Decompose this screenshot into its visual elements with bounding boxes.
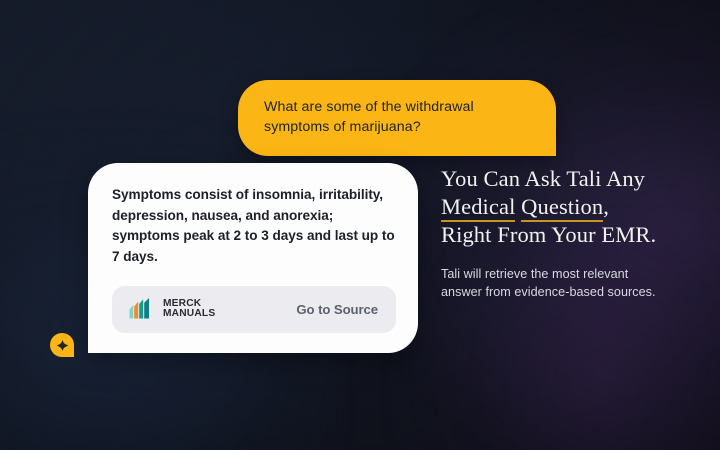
question-bubble: What are some of the withdrawal symptoms…: [238, 80, 556, 156]
merck-manuals-wordmark: MERCK MANUALS: [163, 299, 215, 320]
headline-comma: ,: [603, 194, 609, 219]
answer-text: Symptoms consist of insomnia, irritabili…: [112, 185, 396, 268]
avatar: [50, 333, 74, 357]
merck-line-2: MANUALS: [163, 309, 215, 320]
subcopy-text: Tali will retrieve the most relevant ans…: [441, 266, 666, 302]
merck-manuals-logo-icon: [128, 297, 155, 322]
headline-underlined-question: Question: [521, 194, 603, 222]
promo-banner: What are some of the withdrawal symptoms…: [0, 0, 720, 450]
source-row[interactable]: MERCK MANUALS Go to Source: [112, 286, 396, 333]
go-to-source-link[interactable]: Go to Source: [296, 302, 378, 317]
headline-line-3: Right From Your EMR.: [441, 222, 656, 247]
question-text: What are some of the withdrawal symptoms…: [264, 97, 534, 137]
page-title: You Can Ask Tali Any Medical Question, R…: [441, 165, 686, 250]
answer-bubble: Symptoms consist of insomnia, irritabili…: [88, 163, 418, 353]
headline-underlined-medical: Medical: [441, 194, 515, 222]
source-brand: MERCK MANUALS: [128, 297, 215, 322]
headline-line-1: You Can Ask Tali Any: [441, 166, 645, 191]
copy-column: You Can Ask Tali Any Medical Question, R…: [441, 165, 686, 301]
sparkle-plus-icon: [56, 339, 69, 352]
